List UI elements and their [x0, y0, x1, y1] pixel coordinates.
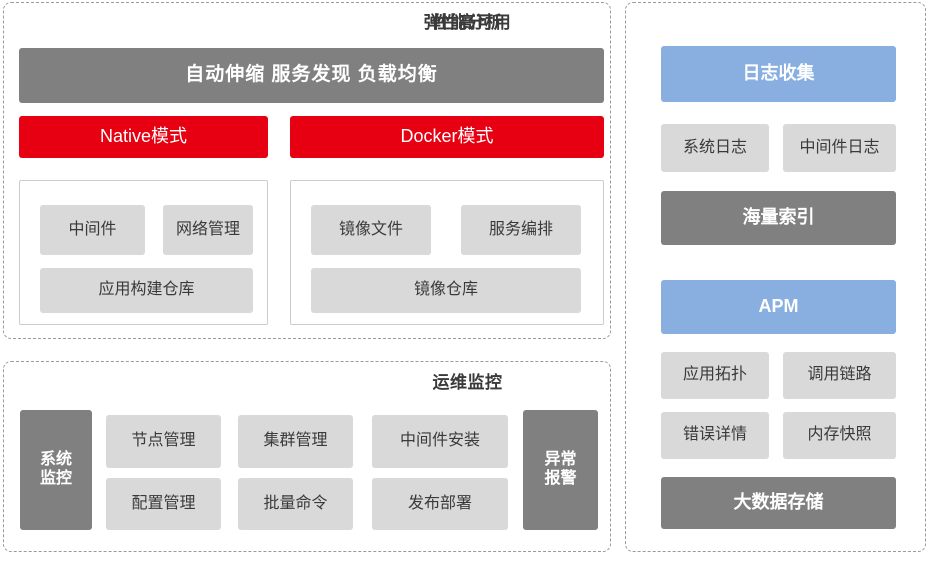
perf-bigdata-storage-bar[interactable]: 大数据存储 — [661, 477, 896, 529]
panel-performance-title: 性能分析 — [0, 8, 935, 33]
perf-log-collection-header[interactable]: 日志收集 — [661, 46, 896, 102]
perf-item-middleware-log[interactable]: 中间件日志 — [783, 124, 896, 172]
ops-item-release-deployment[interactable]: 发布部署 — [372, 478, 508, 530]
ops-item-config-management[interactable]: 配置管理 — [106, 478, 221, 530]
native-item-middleware[interactable]: 中间件 — [40, 205, 145, 255]
ops-item-node-management[interactable]: 节点管理 — [106, 415, 221, 468]
perf-item-memory-snapshot[interactable]: 内存快照 — [783, 412, 896, 459]
ops-rail-exception-alarm-line2: 报警 — [544, 470, 576, 489]
perf-item-application-topology[interactable]: 应用拓扑 — [661, 352, 769, 399]
ops-item-cluster-management[interactable]: 集群管理 — [238, 415, 353, 468]
docker-item-image-repository[interactable]: 镜像仓库 — [311, 268, 581, 313]
perf-apm-header[interactable]: APM — [661, 280, 896, 334]
ops-item-batch-command[interactable]: 批量命令 — [238, 478, 353, 530]
perf-mass-index-bar[interactable]: 海量索引 — [661, 191, 896, 245]
ops-rail-exception-alarm-line1: 异常 — [544, 451, 576, 470]
ops-rail-system-monitoring-line2: 监控 — [40, 470, 72, 489]
docker-item-image-file[interactable]: 镜像文件 — [311, 205, 431, 255]
ops-rail-system-monitoring[interactable]: 系统 监控 — [20, 410, 92, 530]
perf-item-system-log[interactable]: 系统日志 — [661, 124, 769, 172]
native-mode-button[interactable]: Native模式 — [19, 116, 268, 158]
perf-item-call-tracing[interactable]: 调用链路 — [783, 352, 896, 399]
autoscale-service-discovery-load-balance-bar[interactable]: 自动伸缩 服务发现 负载均衡 — [19, 48, 604, 103]
native-item-network-management[interactable]: 网络管理 — [163, 205, 253, 255]
ops-rail-system-monitoring-line1: 系统 — [40, 451, 72, 470]
docker-mode-button[interactable]: Docker模式 — [290, 116, 604, 158]
architecture-diagram: 弹性高可用 自动伸缩 服务发现 负载均衡 Native模式 Docker模式 中… — [0, 0, 935, 567]
ops-item-middleware-install[interactable]: 中间件安装 — [372, 415, 508, 468]
native-item-app-build-repository[interactable]: 应用构建仓库 — [40, 268, 253, 313]
perf-item-error-detail[interactable]: 错误详情 — [661, 412, 769, 459]
docker-item-service-orchestration[interactable]: 服务编排 — [461, 205, 581, 255]
ops-rail-exception-alarm[interactable]: 异常 报警 — [523, 410, 598, 530]
